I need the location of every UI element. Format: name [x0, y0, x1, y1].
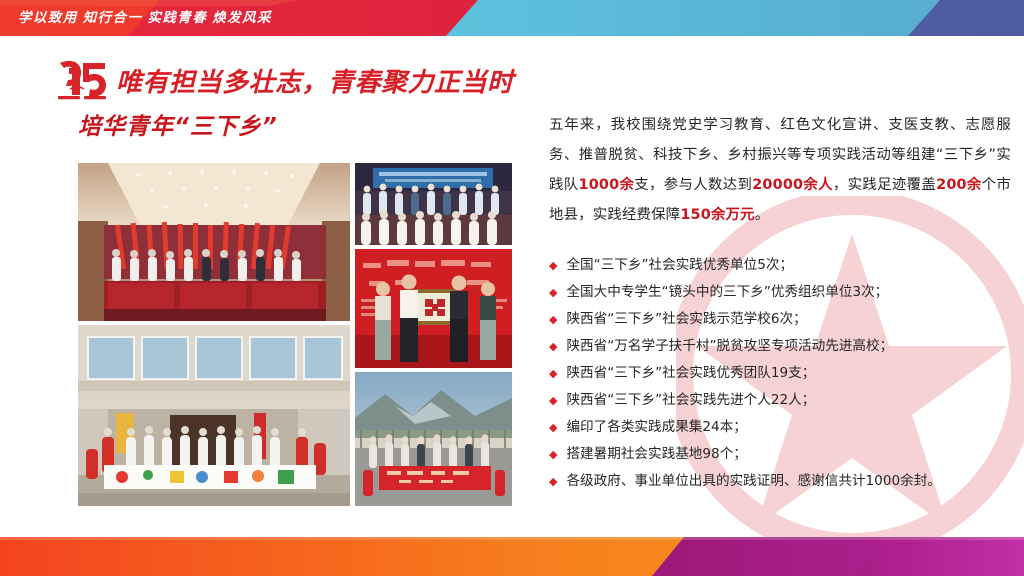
diamond-bullet-icon: ◆: [549, 468, 557, 495]
achievement-item-label: 陕西省“万名学子扶千村”脱贫攻坚专项活动先进高校；: [566, 333, 893, 360]
paragraph-text: 。: [755, 207, 770, 223]
top-slogan: 学以致用 知行合一 实践青春 焕发风采: [18, 0, 272, 36]
achievement-item: ◆各级政府、事业单位出具的实践证明、感谢信共计1000余封。: [549, 468, 1011, 495]
diamond-bullet-icon: ◆: [549, 306, 557, 333]
intro-paragraph: 五年来，我校围绕党史学习教育、红色文化宣讲、支医支教、志愿服务、推普脱贫、科技下…: [549, 110, 1011, 230]
achievement-item-label: 全国大中专学生“镜头中的三下乡”优秀组织单位3次；: [566, 279, 888, 306]
paragraph-text: 支，参与人数达到: [634, 177, 752, 193]
diamond-bullet-icon: ◆: [549, 441, 557, 468]
paragraph-highlight: 1000余: [579, 177, 635, 193]
paragraph-highlight: 20000余人: [752, 177, 833, 193]
photo-banner-award-presentation: [355, 249, 512, 368]
slide-canvas: 学以致用 知行合一 实践青春 焕发风采 唯有担当多壮志，青春聚力正当时 培华青年…: [0, 0, 1024, 576]
achievement-item-label: 编印了各类实践成果集24本；: [566, 414, 746, 441]
achievement-item-label: 陕西省“三下乡”社会实践示范学校6次；: [566, 306, 806, 333]
achievement-item: ◆编印了各类实践成果集24本；: [549, 414, 1011, 441]
achievement-item-label: 搭建暑期社会实践基地98个；: [566, 441, 746, 468]
achievement-item: ◆搭建暑期社会实践基地98个；: [549, 441, 1011, 468]
page-headline: 唯有担当多壮志，青春聚力正当时: [116, 62, 514, 99]
diamond-bullet-icon: ◆: [549, 387, 557, 414]
achievement-list: ◆全国“三下乡”社会实践优秀单位5次；◆全国大中专学生“镜头中的三下乡”优秀组织…: [549, 252, 1011, 495]
achievement-item: ◆陕西省“三下乡”社会实践先进个人22人；: [549, 387, 1011, 414]
diamond-bullet-icon: ◆: [549, 252, 557, 279]
photo-indoor-stage-group: [355, 163, 512, 245]
photo-school-entrance-group: [78, 325, 350, 506]
right-text-column: 五年来，我校围绕党史学习教育、红色文化宣讲、支医支教、志愿服务、推普脱贫、科技下…: [549, 110, 1011, 495]
anniversary-95-logo: [56, 59, 110, 101]
achievement-item-label: 陕西省“三下乡”社会实践先进个人22人；: [566, 387, 815, 414]
paragraph-highlight: 200余: [936, 177, 982, 193]
diamond-bullet-icon: ◆: [549, 279, 557, 306]
paragraph-text: ，实践足迹覆盖: [833, 177, 936, 193]
achievement-item: ◆陕西省“三下乡”社会实践示范学校6次；: [549, 306, 1011, 333]
achievement-item-label: 陕西省“三下乡”社会实践优秀团队19支；: [566, 360, 815, 387]
achievement-item-label: 各级政府、事业单位出具的实践证明、感谢信共计1000余封。: [566, 468, 940, 495]
achievement-item: ◆陕西省“三下乡”社会实践优秀团队19支；: [549, 360, 1011, 387]
achievement-item: ◆全国“三下乡”社会实践优秀单位5次；: [549, 252, 1011, 279]
achievement-item: ◆陕西省“万名学子扶千村”脱贫攻坚专项活动先进高校；: [549, 333, 1011, 360]
diamond-bullet-icon: ◆: [549, 333, 557, 360]
achievement-item: ◆全国大中专学生“镜头中的三下乡”优秀组织单位3次；: [549, 279, 1011, 306]
page-subheadline: 培华青年“三下乡”: [78, 107, 278, 141]
paragraph-highlight: 150余万元: [680, 207, 754, 223]
bottom-banner: [0, 537, 1024, 576]
photo-collage: [78, 163, 512, 506]
photo-auditorium-flag-ceremony: [78, 163, 350, 321]
photo-outdoor-mountain-banner: [355, 372, 512, 506]
achievement-item-label: 全国“三下乡”社会实践优秀单位5次；: [566, 252, 793, 279]
diamond-bullet-icon: ◆: [549, 360, 557, 387]
diamond-bullet-icon: ◆: [549, 414, 557, 441]
